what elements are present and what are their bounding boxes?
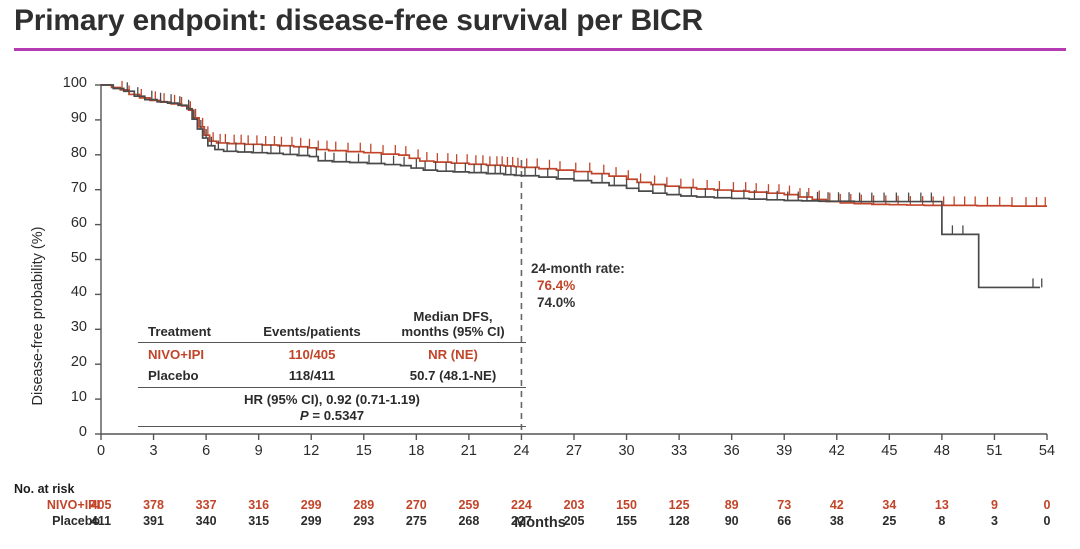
cell-treatment-placebo: Placebo <box>138 365 244 388</box>
header-median-line1: Median DFS, <box>413 309 492 324</box>
risk-cell: 203 <box>554 498 594 512</box>
risk-cell: 13 <box>922 498 962 512</box>
statistics-legend-table: Treatment Events/patients Median DFS, mo… <box>138 307 526 427</box>
x-tick-6: 6 <box>186 443 226 459</box>
header-events: Events/patients <box>244 307 380 343</box>
cell-treatment-nivo: NIVO+IPI <box>138 343 244 366</box>
risk-cell: 89 <box>712 498 752 512</box>
y-tick-30: 30 <box>47 319 87 335</box>
cell-hazard-ratio: HR (95% CI), 0.92 (0.71-1.19) P = 0.5347 <box>138 388 526 427</box>
risk-cell: 0 <box>1027 514 1067 528</box>
rate-annotation-placebo: 74.0% <box>531 294 625 311</box>
risk-cell: 155 <box>607 514 647 528</box>
risk-cell: 268 <box>449 514 489 528</box>
y-tick-70: 70 <box>47 180 87 196</box>
risk-cell: 293 <box>344 514 384 528</box>
risk-table-title: No. at risk <box>14 482 74 496</box>
x-tick-0: 0 <box>81 443 121 459</box>
y-axis-title: Disease-free probability (%) <box>30 166 46 466</box>
risk-cell: 391 <box>134 514 174 528</box>
table-row: NIVO+IPI 110/405 NR (NE) <box>138 343 526 366</box>
risk-cell: 289 <box>344 498 384 512</box>
rate-annotation-heading: 24-month rate: <box>531 260 625 277</box>
x-tick-18: 18 <box>396 443 436 459</box>
risk-cell: 38 <box>817 514 857 528</box>
y-tick-20: 20 <box>47 354 87 370</box>
risk-cell: 315 <box>239 514 279 528</box>
cell-median-placebo: 50.7 (48.1-NE) <box>380 365 526 388</box>
risk-cell: 224 <box>501 498 541 512</box>
risk-cell: 299 <box>291 498 331 512</box>
y-tick-90: 90 <box>47 110 87 126</box>
risk-cell: 73 <box>764 498 804 512</box>
risk-cell: 3 <box>974 514 1014 528</box>
risk-cell: 34 <box>869 498 909 512</box>
x-tick-45: 45 <box>869 443 909 459</box>
risk-cell: 66 <box>764 514 804 528</box>
y-tick-40: 40 <box>47 284 87 300</box>
risk-cell: 316 <box>239 498 279 512</box>
x-tick-3: 3 <box>134 443 174 459</box>
y-tick-10: 10 <box>47 389 87 405</box>
risk-cell: 125 <box>659 498 699 512</box>
x-tick-27: 27 <box>554 443 594 459</box>
risk-cell: 378 <box>134 498 174 512</box>
curve-nivo-ipi <box>101 81 1047 206</box>
risk-cell: 90 <box>712 514 752 528</box>
risk-cell: 259 <box>449 498 489 512</box>
risk-cell: 227 <box>501 514 541 528</box>
table-row: Placebo 118/411 50.7 (48.1-NE) <box>138 365 526 388</box>
y-tick-60: 60 <box>47 215 87 231</box>
y-tick-100: 100 <box>47 75 87 91</box>
risk-cell: 128 <box>659 514 699 528</box>
risk-cell: 9 <box>974 498 1014 512</box>
title-underline-rule <box>14 48 1066 51</box>
cell-events-placebo: 118/411 <box>244 365 380 388</box>
y-tick-0: 0 <box>47 424 87 440</box>
risk-cell: 340 <box>186 514 226 528</box>
p-value: = 0.5347 <box>312 408 364 423</box>
x-tick-54: 54 <box>1027 443 1067 459</box>
risk-cell: 405 <box>81 498 121 512</box>
x-tick-15: 15 <box>344 443 384 459</box>
risk-cell: 0 <box>1027 498 1067 512</box>
header-treatment: Treatment <box>138 307 244 343</box>
x-tick-48: 48 <box>922 443 962 459</box>
x-tick-21: 21 <box>449 443 489 459</box>
page-title: Primary endpoint: disease-free survival … <box>14 4 703 38</box>
y-tick-50: 50 <box>47 250 87 266</box>
risk-cell: 150 <box>607 498 647 512</box>
cell-events-nivo: 110/405 <box>244 343 380 366</box>
rate-annotation: 24-month rate: 76.4% 74.0% <box>531 260 625 311</box>
rate-annotation-nivo: 76.4% <box>531 277 625 294</box>
risk-cell: 270 <box>396 498 436 512</box>
risk-cell: 411 <box>81 514 121 528</box>
risk-cell: 8 <box>922 514 962 528</box>
x-tick-39: 39 <box>764 443 804 459</box>
x-tick-9: 9 <box>239 443 279 459</box>
risk-cell: 205 <box>554 514 594 528</box>
risk-cell: 337 <box>186 498 226 512</box>
risk-cell: 299 <box>291 514 331 528</box>
cell-median-nivo: NR (NE) <box>380 343 526 366</box>
p-label: P <box>300 408 309 423</box>
table-row-hazard-ratio: HR (95% CI), 0.92 (0.71-1.19) P = 0.5347 <box>138 388 526 427</box>
curve-placebo <box>101 82 1042 287</box>
y-tick-80: 80 <box>47 145 87 161</box>
header-median-dfs: Median DFS, months (95% CI) <box>380 307 526 343</box>
risk-cell: 275 <box>396 514 436 528</box>
risk-cell: 25 <box>869 514 909 528</box>
x-tick-33: 33 <box>659 443 699 459</box>
x-tick-36: 36 <box>712 443 752 459</box>
risk-cell: 42 <box>817 498 857 512</box>
x-tick-24: 24 <box>501 443 541 459</box>
x-tick-42: 42 <box>817 443 857 459</box>
header-median-line2: months (95% CI) <box>401 324 504 339</box>
x-tick-30: 30 <box>607 443 647 459</box>
x-tick-12: 12 <box>291 443 331 459</box>
x-tick-51: 51 <box>974 443 1014 459</box>
chart-plot-area: Disease-free probability (%) Months 0102… <box>0 60 1080 480</box>
hr-text: HR (95% CI), 0.92 (0.71-1.19) <box>244 392 420 407</box>
survival-curves <box>101 81 1047 288</box>
